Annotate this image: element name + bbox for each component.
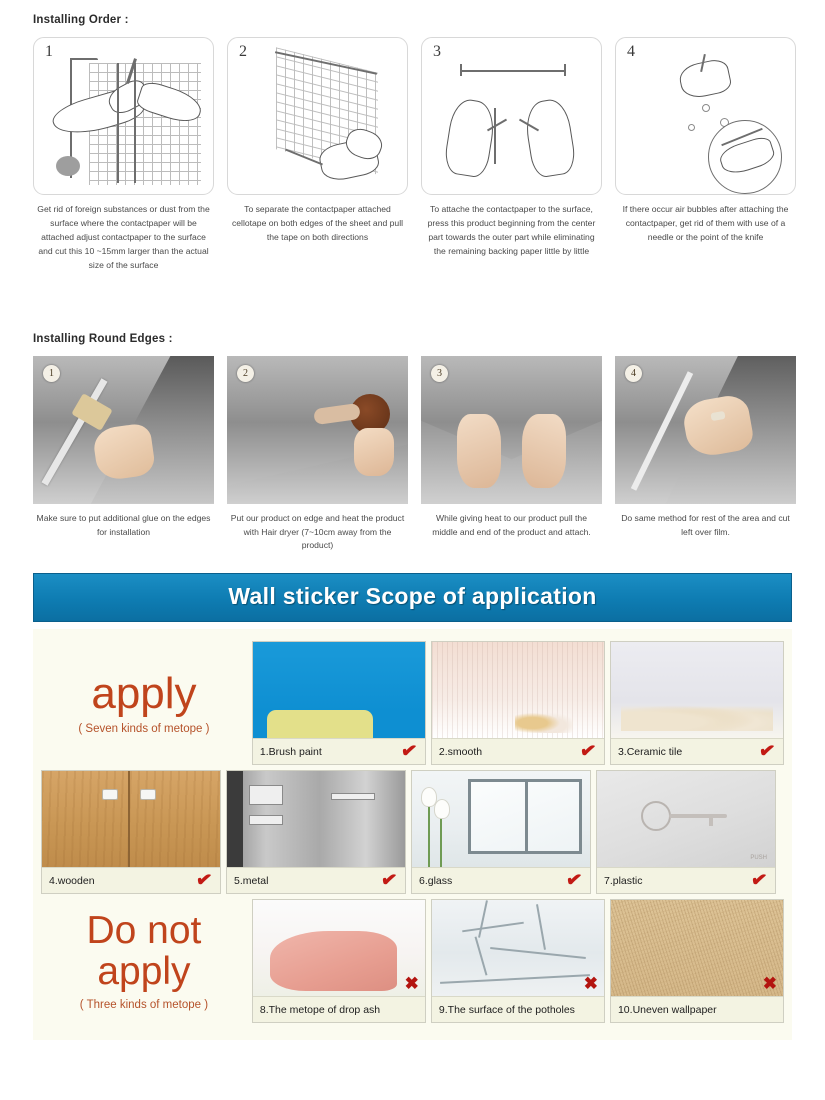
step-2-number: 2 [239, 43, 247, 61]
scope-banner-title: Wall sticker Scope of application [228, 583, 596, 609]
scope-item-ceramic-tile[interactable]: 3.Ceramic tile ✔ [610, 641, 784, 765]
round-edge-2-caption: Put our product on edge and heat the pro… [227, 512, 408, 554]
ceramic-tile-bar: 3.Ceramic tile ✔ [611, 738, 783, 764]
check-icon: ✔ [195, 870, 213, 891]
potholes-photo: ✖ [432, 900, 604, 996]
uneven-wallpaper-label: 10.Uneven wallpaper [618, 1004, 717, 1016]
cross-icon: ✖ [584, 975, 598, 992]
step-4-illustration: 4 [615, 37, 796, 195]
round-edge-2-photo: 2 [227, 356, 408, 504]
do-not-apply-label-cell: Do not apply ( Three kinds of metope ) [41, 899, 247, 1023]
round-edges-row: 1 Make sure to put additional glue on th… [33, 356, 797, 554]
round-edges-section: Installing Round Edges : 1 Make sure to … [0, 333, 825, 554]
scope-row-2: 4.wooden ✔ 5.metal ✔ [41, 770, 784, 894]
ceramic-tile-label: 3.Ceramic tile [618, 746, 682, 758]
metal-photo [227, 771, 405, 867]
installing-order-row: 1 Get rid of foreign substances or dust … [33, 37, 797, 273]
wooden-photo [42, 771, 220, 867]
drop-ash-label: 8.The metope of drop ash [260, 1004, 380, 1016]
round-edges-title: Installing Round Edges : [33, 333, 797, 345]
drop-ash-photo: ✖ [253, 900, 425, 996]
step-3-illustration: 3 [421, 37, 602, 195]
step-3-number: 3 [433, 43, 441, 61]
potholes-bar: 9.The surface of the potholes [432, 996, 604, 1022]
round-edge-step-1: 1 Make sure to put additional glue on th… [33, 356, 214, 554]
scope-item-plastic[interactable]: PUSH 7.plastic ✔ [596, 770, 776, 894]
cross-icon: ✖ [763, 975, 777, 992]
glass-bar: 6.glass ✔ [412, 867, 590, 893]
installing-order-step-3: 3 To attache the contactpaper to the sur… [421, 37, 602, 273]
scope-row-3: Do not apply ( Three kinds of metope ) ✖… [41, 899, 784, 1023]
check-icon: ✔ [400, 741, 418, 762]
installing-order-step-4: 4 If there occur air bubbles after attac… [615, 37, 796, 273]
round-edge-step-2: 2 Put our product on edge and heat the p… [227, 356, 408, 554]
ceramic-tile-photo [611, 642, 783, 738]
plastic-bar: 7.plastic ✔ [597, 867, 775, 893]
scope-item-uneven-wallpaper[interactable]: ✖ 10.Uneven wallpaper [610, 899, 784, 1023]
apply-label-cell: apply ( Seven kinds of metope ) [41, 641, 247, 765]
round-edge-2-number: 2 [237, 365, 254, 382]
step-3-caption: To attache the contactpaper to the surfa… [421, 203, 602, 259]
step-4-number: 4 [627, 43, 635, 61]
do-not-apply-subheading: ( Three kinds of metope ) [80, 999, 208, 1011]
step-1-number: 1 [45, 43, 53, 61]
installing-order-step-2: 2 To separate the contactpaper attached … [227, 37, 408, 273]
brush-paint-label: 1.Brush paint [260, 746, 322, 758]
check-icon: ✔ [380, 870, 398, 891]
round-edge-1-number: 1 [43, 365, 60, 382]
potholes-label: 9.The surface of the potholes [439, 1004, 575, 1016]
check-icon: ✔ [750, 870, 768, 891]
metal-label: 5.metal [234, 875, 268, 887]
round-edge-4-caption: Do same method for rest of the area and … [615, 512, 796, 540]
installing-order-step-1: 1 Get rid of foreign substances or dust … [33, 37, 214, 273]
drop-ash-bar: 8.The metope of drop ash [253, 996, 425, 1022]
uneven-wallpaper-photo: ✖ [611, 900, 783, 996]
step-4-caption: If there occur air bubbles after attachi… [615, 203, 796, 245]
uneven-wallpaper-bar: 10.Uneven wallpaper [611, 996, 783, 1022]
smooth-photo [432, 642, 604, 738]
smooth-bar: 2.smooth ✔ [432, 738, 604, 764]
step-2-caption: To separate the contactpaper attached ce… [227, 203, 408, 245]
wooden-label: 4.wooden [49, 875, 95, 887]
scope-of-application-section: Wall sticker Scope of application apply … [0, 573, 825, 1040]
scope-item-glass[interactable]: 6.glass ✔ [411, 770, 591, 894]
scope-row-1: apply ( Seven kinds of metope ) 1.Brush … [41, 641, 784, 765]
apply-heading: apply [91, 671, 196, 717]
brush-paint-photo [253, 642, 425, 738]
installing-order-title: Installing Order : [33, 14, 797, 26]
glass-photo [412, 771, 590, 867]
glass-label: 6.glass [419, 875, 452, 887]
round-edge-4-number: 4 [625, 365, 642, 382]
round-edge-4-photo: 4 [615, 356, 796, 504]
scope-panel: apply ( Seven kinds of metope ) 1.Brush … [33, 629, 792, 1040]
check-icon: ✔ [565, 870, 583, 891]
step-1-illustration: 1 [33, 37, 214, 195]
round-edge-step-4: 4 Do same method for rest of the area an… [615, 356, 796, 554]
cross-icon: ✖ [405, 975, 419, 992]
metal-bar: 5.metal ✔ [227, 867, 405, 893]
scope-item-wooden[interactable]: 4.wooden ✔ [41, 770, 221, 894]
round-edge-3-caption: While giving heat to our product pull th… [421, 512, 602, 540]
apply-subheading: ( Seven kinds of metope ) [78, 723, 209, 735]
check-icon: ✔ [579, 741, 597, 762]
check-icon: ✔ [758, 741, 776, 762]
round-edge-1-photo: 1 [33, 356, 214, 504]
scope-item-brush-paint[interactable]: 1.Brush paint ✔ [252, 641, 426, 765]
round-edge-1-caption: Make sure to put additional glue on the … [33, 512, 214, 540]
scope-item-metal[interactable]: 5.metal ✔ [226, 770, 406, 894]
brush-paint-bar: 1.Brush paint ✔ [253, 738, 425, 764]
round-edge-3-photo: 3 [421, 356, 602, 504]
plastic-photo: PUSH [597, 771, 775, 867]
plastic-stamp-text: PUSH [750, 855, 767, 861]
step-2-illustration: 2 [227, 37, 408, 195]
scope-banner-wrap: Wall sticker Scope of application [0, 573, 825, 622]
scope-item-drop-ash[interactable]: ✖ 8.The metope of drop ash [252, 899, 426, 1023]
scope-banner: Wall sticker Scope of application [33, 573, 792, 622]
step-1-caption: Get rid of foreign substances or dust fr… [33, 203, 214, 273]
round-edge-3-number: 3 [431, 365, 448, 382]
do-not-apply-heading-line1: Do not [86, 911, 201, 952]
plastic-label: 7.plastic [604, 875, 643, 887]
do-not-apply-heading-line2: apply [97, 952, 190, 993]
wooden-bar: 4.wooden ✔ [42, 867, 220, 893]
smooth-label: 2.smooth [439, 746, 482, 758]
installing-order-section: Installing Order : 1 Get rid of foreign … [0, 0, 825, 273]
round-edge-step-3: 3 While giving heat to our product pull … [421, 356, 602, 554]
scope-item-potholes[interactable]: ✖ 9.The surface of the potholes [431, 899, 605, 1023]
scope-item-smooth[interactable]: 2.smooth ✔ [431, 641, 605, 765]
